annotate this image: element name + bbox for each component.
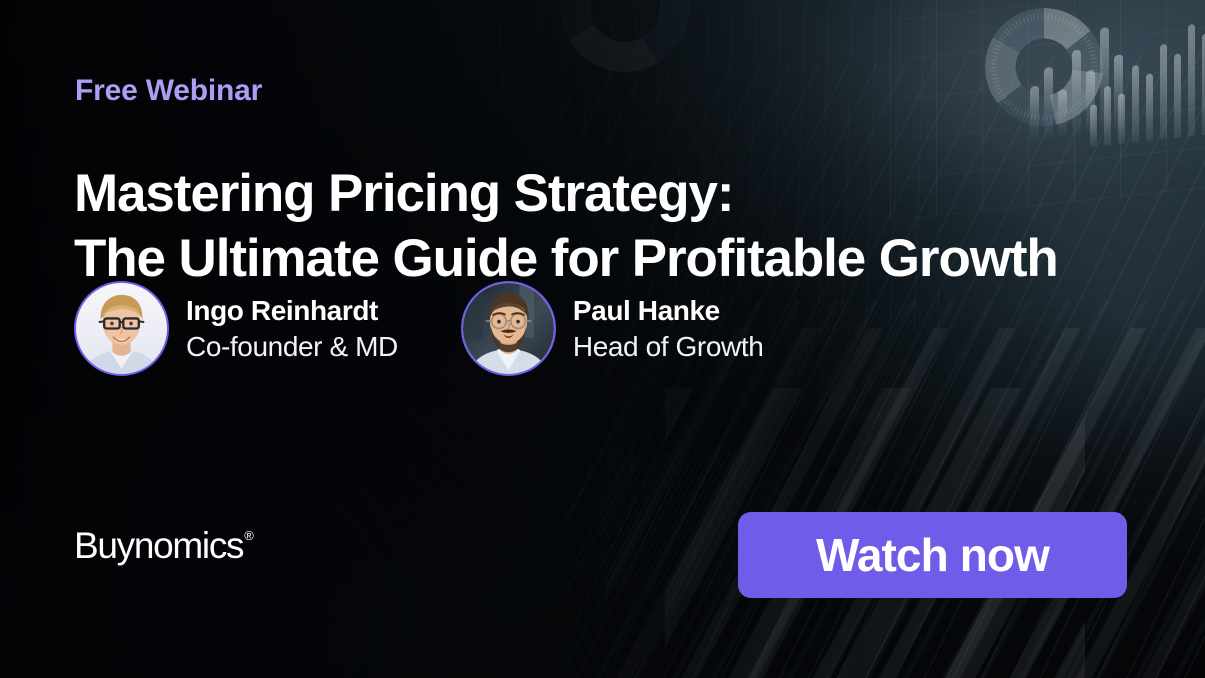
page-title: Mastering Pricing Strategy: The Ultimate… — [74, 161, 1164, 291]
avatar — [461, 281, 556, 376]
banner-content: Free Webinar Mastering Pricing Strategy:… — [0, 0, 1205, 678]
registered-trademark-icon: ® — [244, 529, 254, 542]
avatar — [74, 281, 169, 376]
eyebrow-label: Free Webinar — [75, 76, 262, 106]
speaker-role: Co-founder & MD — [186, 329, 398, 365]
logo-wordmark: Buynomics — [74, 527, 243, 564]
speaker-name: Ingo Reinhardt — [186, 293, 398, 329]
speaker-card: Ingo Reinhardt Co-founder & MD — [74, 281, 398, 376]
speaker-name: Paul Hanke — [573, 293, 764, 329]
speaker-card: Paul Hanke Head of Growth — [461, 281, 764, 376]
speaker-text: Paul Hanke Head of Growth — [573, 293, 764, 365]
speaker-list: Ingo Reinhardt Co-founder & MD — [74, 281, 763, 376]
speaker-text: Ingo Reinhardt Co-founder & MD — [186, 293, 398, 365]
watch-now-button[interactable]: Watch now — [738, 512, 1127, 598]
brand-logo: Buynomics ® — [74, 527, 254, 564]
speaker-role: Head of Growth — [573, 329, 764, 365]
webinar-promo-banner: Free Webinar Mastering Pricing Strategy:… — [0, 0, 1205, 678]
